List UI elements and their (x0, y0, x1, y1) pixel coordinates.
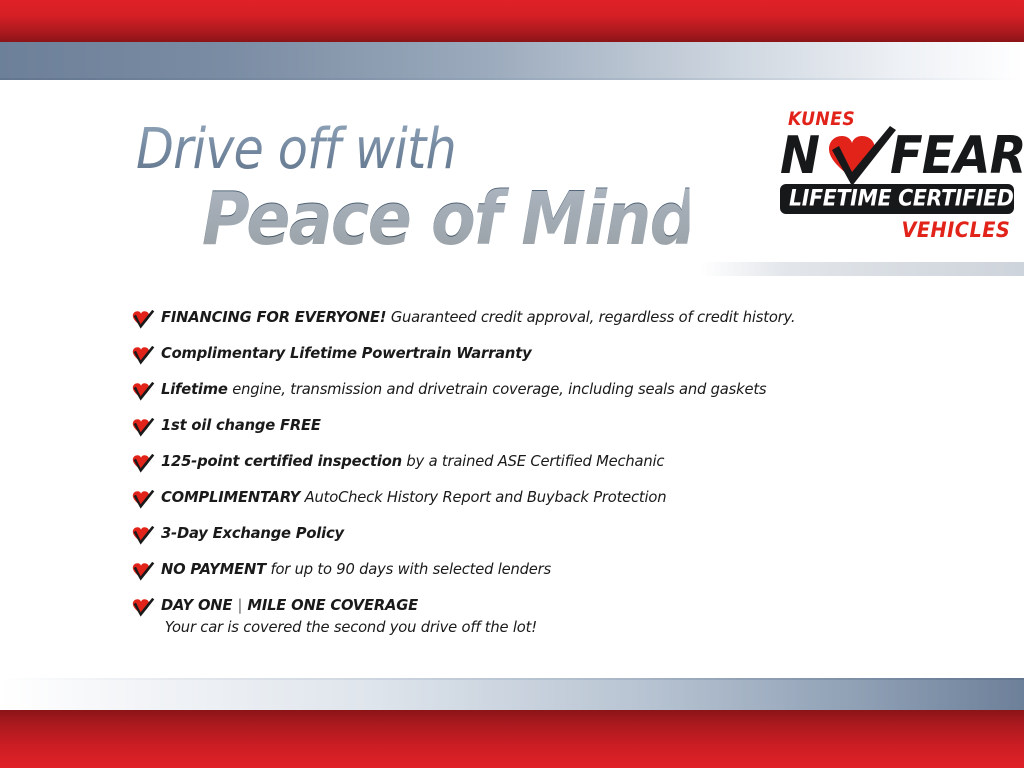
logo-certified-bar: LIFETIME CERTIFIED (780, 184, 1014, 214)
list-item-text: NO PAYMENT for up to 90 days with select… (161, 560, 551, 579)
list-item: 1st oil change FREE (131, 416, 931, 438)
list-item-text: 125-point certified inspection by a trai… (161, 452, 664, 471)
heart-check-icon (131, 309, 155, 330)
headline-block: Drive off with Peace of Mind (136, 122, 756, 256)
list-item-rest: AutoCheck History Report and Buyback Pro… (300, 488, 666, 506)
kunes-no-fear-logo: KUNES N FEAR LIFETIME CERTIFIED VEHICLES (778, 108, 1016, 244)
list-item-bold: COMPLIMENTARY (161, 488, 300, 506)
heart-check-icon (131, 417, 155, 438)
list-item: FINANCING FOR EVERYONE! Guaranteed credi… (131, 308, 931, 330)
heart-check-icon (131, 381, 155, 402)
list-item: Complimentary Lifetime Powertrain Warran… (131, 344, 931, 366)
list-item: NO PAYMENT for up to 90 days with select… (131, 560, 931, 582)
heart-check-icon (131, 345, 155, 366)
list-item: DAY ONE | MILE ONE COVERAGEYour car is c… (131, 596, 931, 638)
list-item-bold: Complimentary Lifetime Powertrain Warran… (161, 344, 531, 362)
heart-check-icon (131, 561, 155, 582)
list-item-rest: for up to 90 days with selected lenders (266, 560, 551, 578)
top-gray-banner-bar (0, 42, 1024, 80)
list-item-bold: 3-Day Exchange Policy (161, 524, 344, 542)
list-item-text: 1st oil change FREE (161, 416, 321, 435)
list-item-rest: engine, transmission and drivetrain cove… (228, 380, 767, 398)
logo-certified-text: LIFETIME CERTIFIED (789, 187, 1014, 212)
heart-check-icon (131, 597, 155, 618)
list-item-bold-two: MILE ONE COVERAGE (247, 596, 418, 614)
benefits-list: FINANCING FOR EVERYONE! Guaranteed credi… (131, 308, 931, 652)
list-item-rest: by a trained ASE Certified Mechanic (402, 452, 664, 470)
list-item-bold: 1st oil change FREE (161, 416, 321, 434)
list-item-text: Lifetime engine, transmission and drivet… (161, 380, 766, 399)
bottom-gray-banner-bar (0, 678, 1024, 710)
list-item-text: COMPLIMENTARY AutoCheck History Report a… (161, 488, 666, 507)
logo-word-fear: FEAR (890, 128, 1024, 184)
list-item: Lifetime engine, transmission and drivet… (131, 380, 931, 402)
headline-divider (700, 262, 1024, 276)
top-red-banner-bar (0, 0, 1024, 42)
list-item-bold: Lifetime (161, 380, 228, 398)
list-item: COMPLIMENTARY AutoCheck History Report a… (131, 488, 931, 510)
heart-check-icon (131, 453, 155, 474)
logo-vehicles-text: VEHICLES (901, 218, 1010, 242)
list-item-bold: DAY ONE (161, 596, 232, 614)
list-item-bold: 125-point certified inspection (161, 452, 402, 470)
list-item-bold: NO PAYMENT (161, 560, 266, 578)
headline-line-one: Drive off with (136, 122, 682, 178)
list-item-separator: | (232, 596, 247, 614)
heart-check-icon (131, 525, 155, 546)
heart-check-icon (131, 489, 155, 510)
list-item: 125-point certified inspection by a trai… (131, 452, 931, 474)
bottom-red-banner-bar (0, 710, 1024, 768)
promo-page: Drive off with Peace of Mind KUNES N FEA… (0, 0, 1024, 768)
logo-nofear-wordmark: N FEAR (778, 128, 1016, 184)
logo-letter-n: N (780, 128, 820, 184)
list-item: 3-Day Exchange Policy (131, 524, 931, 546)
list-item-text: Complimentary Lifetime Powertrain Warran… (161, 344, 531, 363)
list-item-text: DAY ONE | MILE ONE COVERAGEYour car is c… (161, 596, 537, 638)
list-item-text: FINANCING FOR EVERYONE! Guaranteed credi… (161, 308, 795, 327)
list-item-bold: FINANCING FOR EVERYONE! (161, 308, 386, 326)
list-item-text: 3-Day Exchange Policy (161, 524, 344, 543)
list-item-subline: Your car is covered the second you drive… (165, 618, 537, 637)
headline-line-two: Peace of Mind (202, 182, 690, 256)
list-item-rest: Guaranteed credit approval, regardless o… (386, 308, 795, 326)
